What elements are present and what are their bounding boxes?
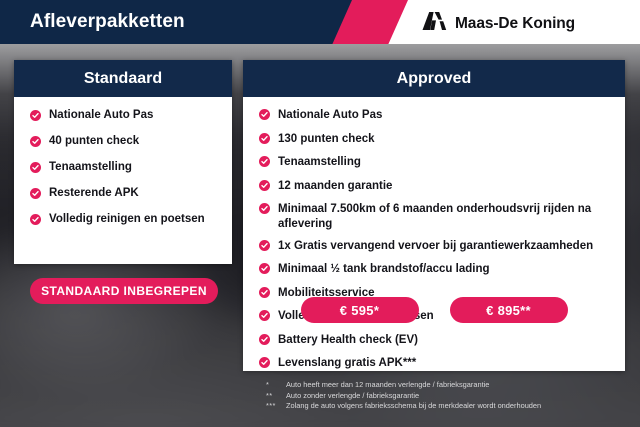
footnote-row: ***Zolang de auto volgens fabrieksschema… bbox=[266, 401, 626, 412]
footnote-text: Zolang de auto volgens fabrieksschema bi… bbox=[286, 401, 541, 412]
feature-item: Battery Health check (EV) bbox=[259, 333, 611, 350]
footnote-marker: *** bbox=[266, 401, 286, 412]
feature-item: Nationale Auto Pas bbox=[259, 108, 611, 125]
check-circle-icon bbox=[259, 334, 270, 350]
price-button-2[interactable]: € 895** bbox=[450, 297, 568, 323]
feature-label: 40 punten check bbox=[49, 135, 139, 148]
brand-lockup: Maas-De Koning bbox=[421, 11, 575, 36]
feature-item: Tenaamstelling bbox=[30, 161, 222, 177]
maas-de-koning-m-logo-icon bbox=[421, 11, 447, 36]
feature-label: Resterende APK bbox=[49, 187, 139, 200]
feature-item: Volledig reinigen en poetsen bbox=[30, 213, 222, 229]
feature-label: 12 maanden garantie bbox=[278, 179, 392, 194]
feature-label: Tenaamstelling bbox=[49, 161, 132, 174]
check-circle-icon bbox=[259, 180, 270, 196]
package-card-approved: Approved Nationale Auto Pas130 punten ch… bbox=[243, 60, 625, 371]
feature-label: Battery Health check (EV) bbox=[278, 333, 418, 348]
afleverpakketten-page: Afleverpakketten Maas-De Koning Standaar… bbox=[0, 0, 640, 427]
feature-item: Nationale Auto Pas bbox=[30, 109, 222, 125]
footnote-row: *Auto heeft meer dan 12 maanden verlengd… bbox=[266, 380, 626, 391]
check-circle-icon bbox=[259, 357, 270, 373]
check-circle-icon bbox=[259, 156, 270, 172]
footnote-text: Auto zonder verlengde / fabrieksgarantie bbox=[286, 391, 419, 402]
footnotes: *Auto heeft meer dan 12 maanden verlengd… bbox=[266, 380, 626, 412]
footnote-row: **Auto zonder verlengde / fabrieksgarant… bbox=[266, 391, 626, 402]
card-title-standaard: Standaard bbox=[14, 60, 232, 97]
check-circle-icon bbox=[30, 162, 41, 177]
feature-label: Nationale Auto Pas bbox=[49, 109, 153, 122]
feature-item: Minimaal 7.500km of 6 maanden onderhouds… bbox=[259, 202, 611, 232]
feature-label: Nationale Auto Pas bbox=[278, 108, 382, 123]
price-button-1[interactable]: € 595* bbox=[301, 297, 419, 323]
feature-label: Volledig reinigen en poetsen bbox=[49, 213, 205, 226]
brand-name: Maas-De Koning bbox=[455, 15, 575, 33]
feature-label: Tenaamstelling bbox=[278, 155, 361, 170]
feature-item: Minimaal ½ tank brandstof/accu lading bbox=[259, 262, 611, 279]
feature-item: Levenslang gratis APK*** bbox=[259, 356, 611, 373]
page-title: Afleverpakketten bbox=[30, 11, 185, 33]
check-circle-icon bbox=[259, 203, 270, 219]
feature-item: 1x Gratis vervangend vervoer bij garanti… bbox=[259, 239, 611, 256]
check-circle-icon bbox=[30, 214, 41, 229]
check-circle-icon bbox=[259, 263, 270, 279]
package-card-standaard: Standaard Nationale Auto Pas40 punten ch… bbox=[14, 60, 232, 264]
check-circle-icon bbox=[30, 188, 41, 203]
feature-item: 12 maanden garantie bbox=[259, 179, 611, 196]
check-circle-icon bbox=[30, 110, 41, 125]
check-circle-icon bbox=[259, 109, 270, 125]
feature-item: 40 punten check bbox=[30, 135, 222, 151]
feature-item: 130 punten check bbox=[259, 132, 611, 149]
feature-label: 1x Gratis vervangend vervoer bij garanti… bbox=[278, 239, 593, 254]
footnote-marker: ** bbox=[266, 391, 286, 402]
page-header: Afleverpakketten Maas-De Koning bbox=[0, 0, 640, 44]
check-circle-icon bbox=[259, 240, 270, 256]
check-circle-icon bbox=[30, 136, 41, 151]
check-circle-icon bbox=[259, 133, 270, 149]
standaard-inbegrepen-button[interactable]: STANDAARD INBEGREPEN bbox=[30, 278, 218, 304]
feature-label: Minimaal ½ tank brandstof/accu lading bbox=[278, 262, 490, 277]
feature-label: Minimaal 7.500km of 6 maanden onderhouds… bbox=[278, 202, 611, 232]
feature-list-standaard: Nationale Auto Pas40 punten checkTenaams… bbox=[14, 109, 232, 229]
feature-item: Tenaamstelling bbox=[259, 155, 611, 172]
feature-label: 130 punten check bbox=[278, 132, 375, 147]
footnote-text: Auto heeft meer dan 12 maanden verlengde… bbox=[286, 380, 489, 391]
card-title-approved: Approved bbox=[243, 60, 625, 97]
footnote-marker: * bbox=[266, 380, 286, 391]
price-button-row: € 595*€ 895** bbox=[243, 297, 625, 323]
feature-label: Levenslang gratis APK*** bbox=[278, 356, 416, 371]
feature-item: Resterende APK bbox=[30, 187, 222, 203]
feature-list-approved: Nationale Auto Pas130 punten checkTenaam… bbox=[243, 108, 625, 373]
